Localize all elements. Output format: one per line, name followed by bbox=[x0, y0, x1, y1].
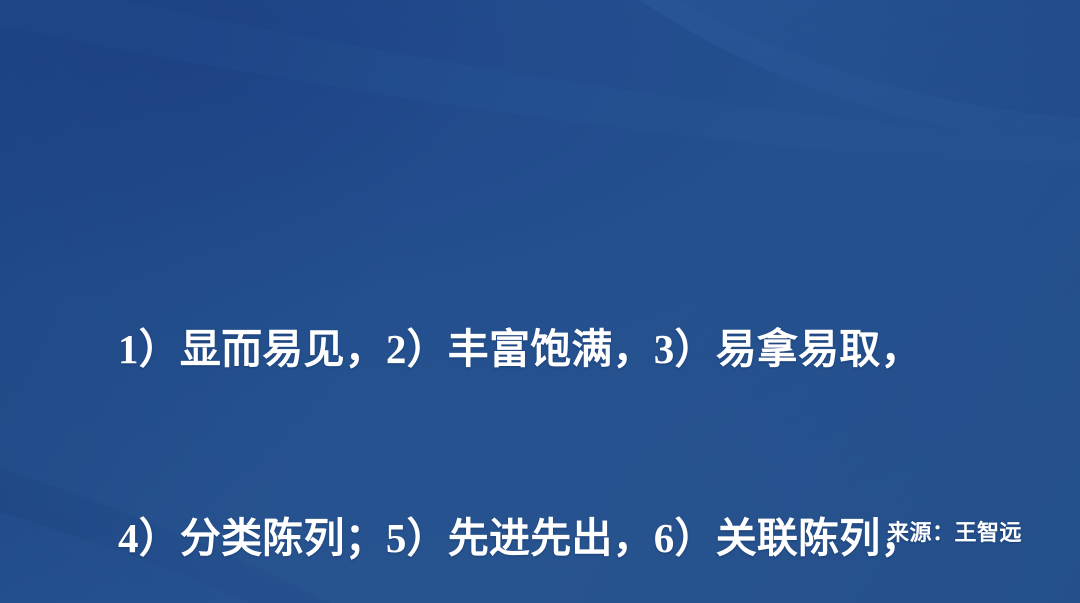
body-line-1: 1）显而易见，2）丰富饱满，3）易拿易取， bbox=[118, 318, 1028, 381]
source-attribution: 来源：王智远 bbox=[887, 518, 1022, 548]
slide-canvas: 1）显而易见，2）丰富饱满，3）易拿易取， 4）分类陈列；5）先进先出，6）关联… bbox=[0, 0, 1080, 603]
